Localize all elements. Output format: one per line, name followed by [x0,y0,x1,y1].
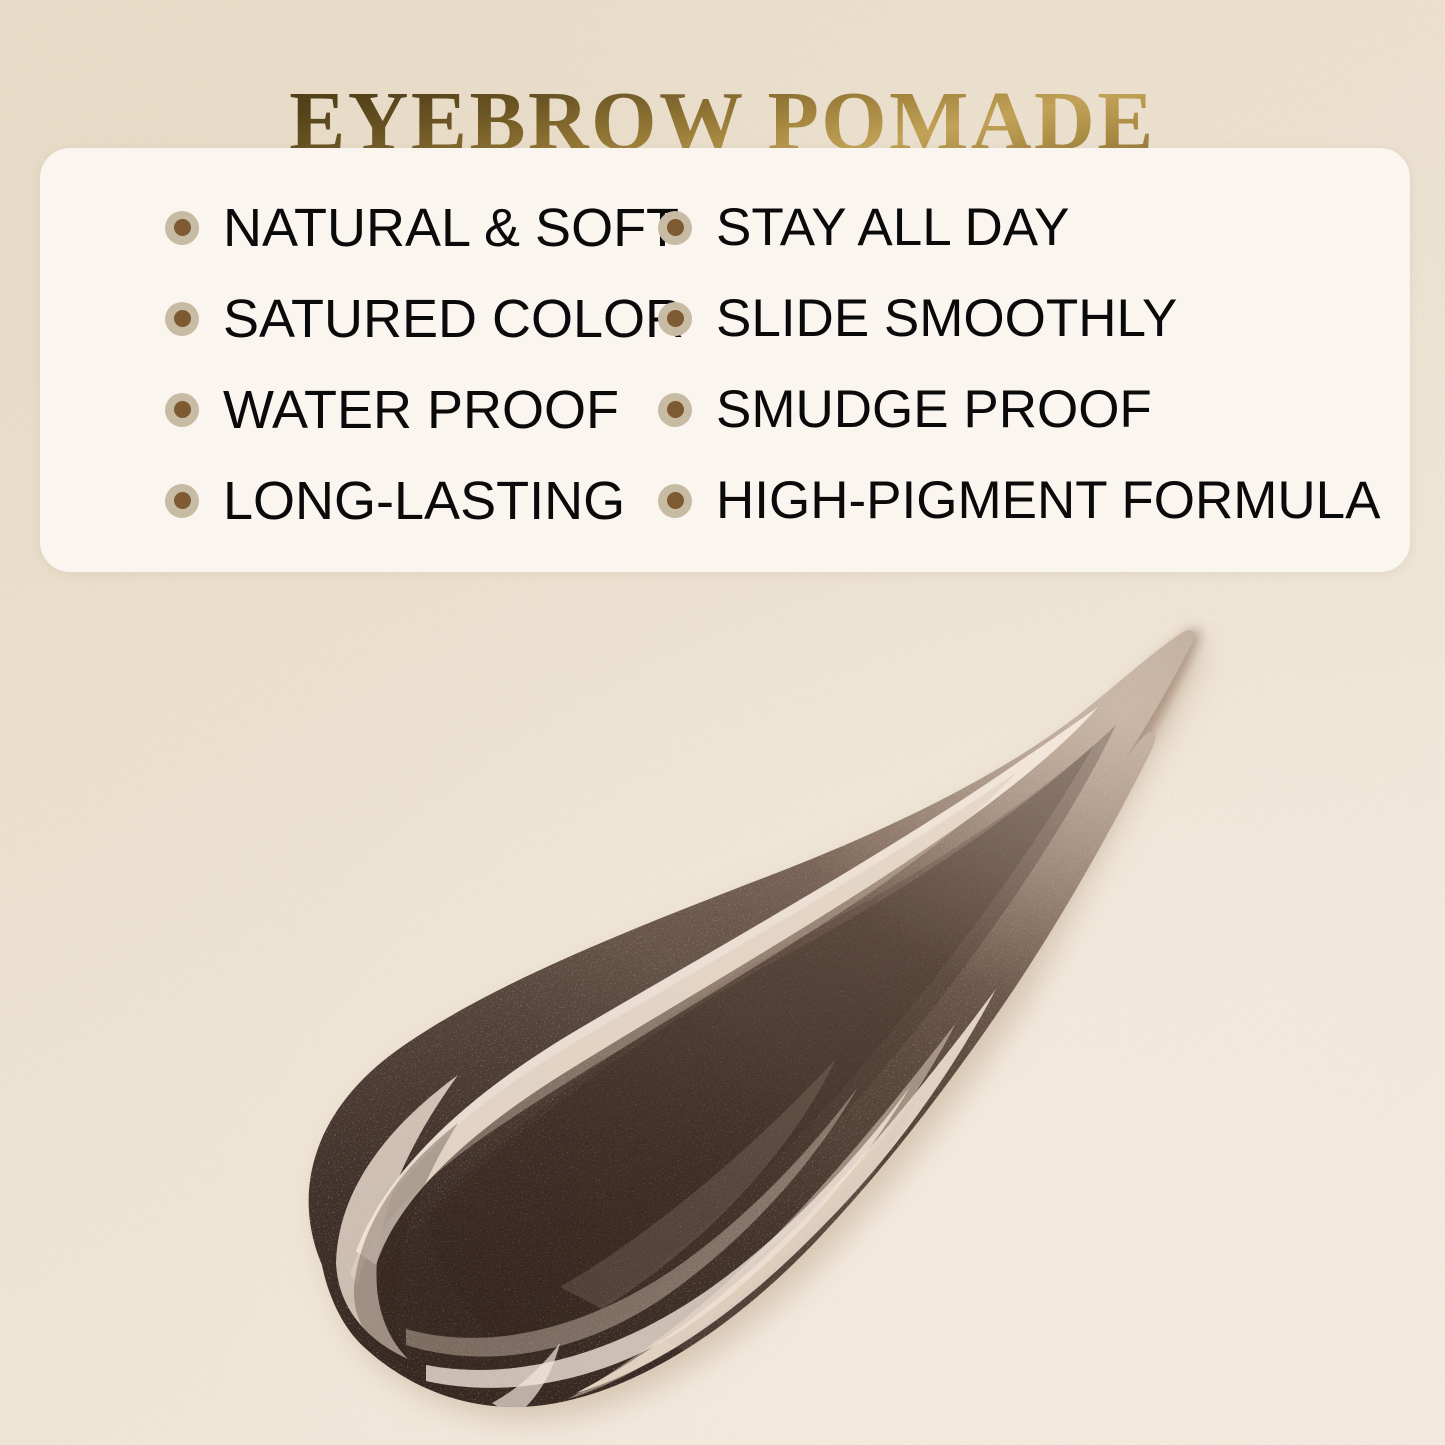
product-swatch [230,575,1290,1445]
feature-label: SATURED COLOR [223,292,684,346]
bullet-dot-icon [658,302,692,336]
bullet-dot-icon [165,302,199,336]
feature-item-high-pigment-formula: HIGH-PIGMENT FORMULA [644,455,1410,546]
bullet-dot-icon [658,211,692,245]
features-card: NATURAL & SOFT STAY ALL DAY SATURED COLO… [40,148,1410,572]
feature-item-satured-color: SATURED COLOR [40,273,644,364]
bullet-dot-icon [165,393,199,427]
product-infographic: EYEBROW POMADE NATURAL & SOFT STAY ALL D… [0,0,1445,1445]
bullet-dot-icon [165,484,199,518]
feature-item-long-lasting: LONG-LASTING [40,455,644,546]
bullet-dot-icon [658,484,692,518]
features-grid: NATURAL & SOFT STAY ALL DAY SATURED COLO… [40,148,1410,572]
feature-label: SMUDGE PROOF [716,383,1152,436]
feature-label: NATURAL & SOFT [223,201,679,255]
feature-label: SLIDE SMOOTHLY [716,292,1177,345]
bullet-dot-icon [165,211,199,245]
feature-label: HIGH-PIGMENT FORMULA [716,474,1381,527]
feature-item-water-proof: WATER PROOF [40,364,644,455]
feature-label: LONG-LASTING [223,474,625,528]
feature-item-smudge-proof: SMUDGE PROOF [644,364,1410,455]
feature-label: WATER PROOF [223,383,619,437]
feature-item-stay-all-day: STAY ALL DAY [644,182,1410,273]
feature-label: STAY ALL DAY [716,201,1070,254]
feature-item-natural-soft: NATURAL & SOFT [40,182,644,273]
bullet-dot-icon [658,393,692,427]
feature-item-slide-smoothly: SLIDE SMOOTHLY [644,273,1410,364]
